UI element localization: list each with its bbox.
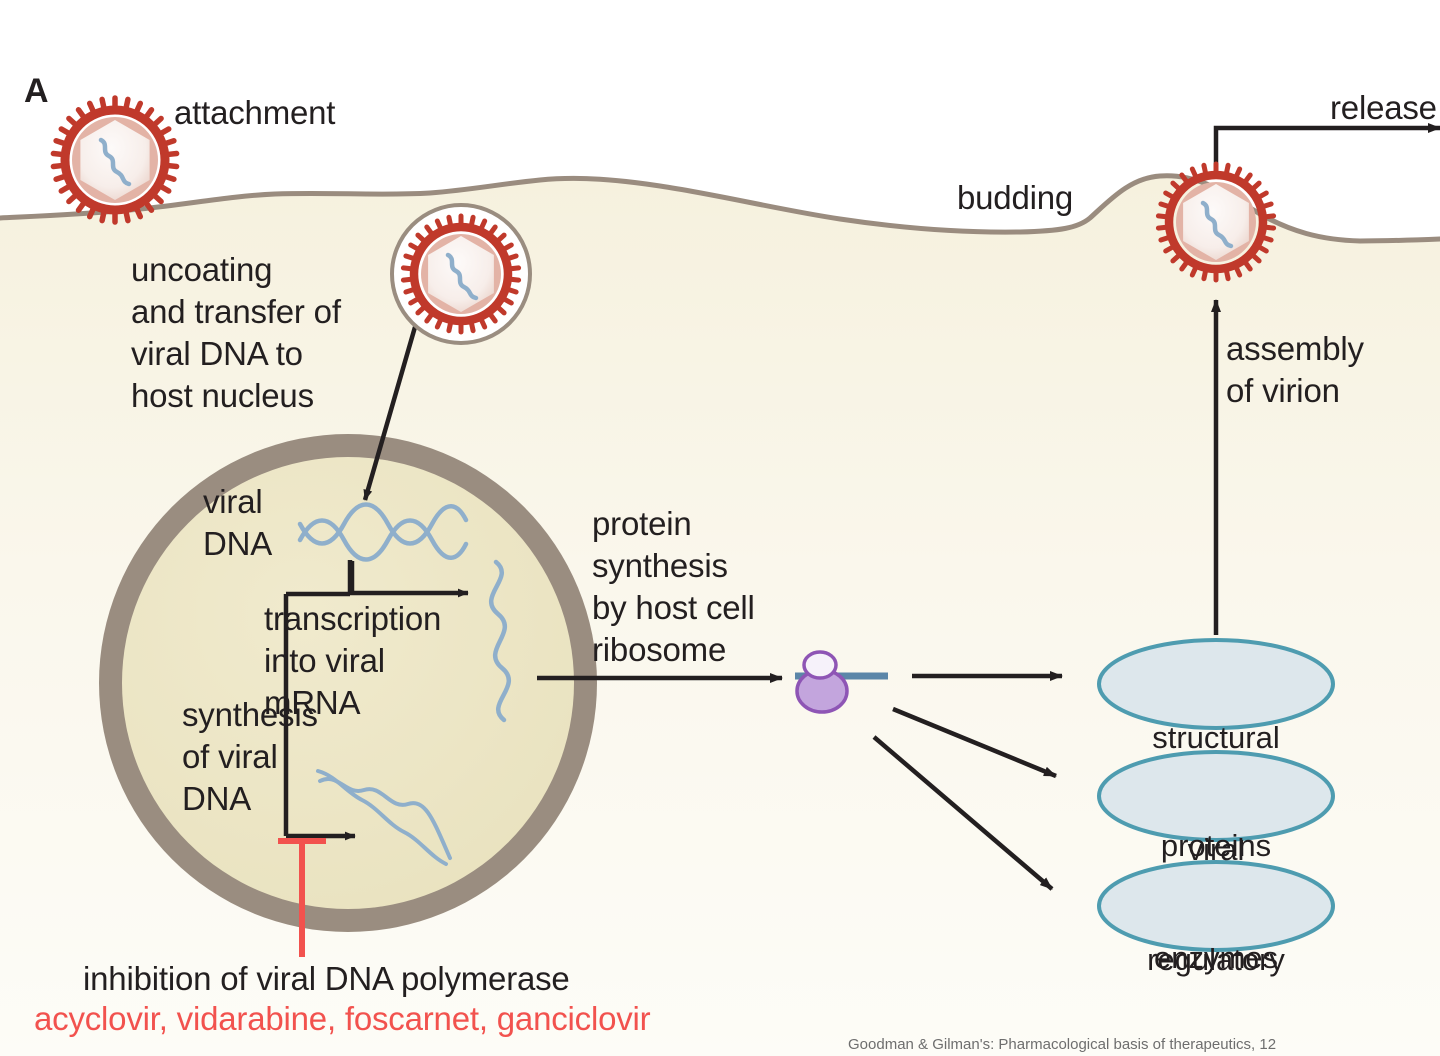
label-attachment: attachment (174, 92, 335, 134)
figure-citation: Goodman & Gilman's: Pharmacological basi… (848, 1036, 1276, 1054)
virion-budding-icon (1158, 164, 1273, 280)
label-viral-dna: viral DNA (203, 481, 272, 565)
label-assembly: assembly of virion (1226, 328, 1364, 412)
product-line-1: regulatory (1099, 942, 1333, 978)
label-protein-synthesis: protein synthesis by host cell ribosome (592, 503, 755, 671)
product-line-1: structural (1099, 720, 1333, 756)
virion-in-endosome-icon (392, 205, 530, 343)
label-budding: budding (957, 177, 1073, 219)
label-release: release (1330, 87, 1437, 129)
label-inhibition: inhibition of viral DNA polymerase (83, 958, 570, 1000)
label-synthesis: synthesis of viral DNA (182, 694, 318, 820)
virion-icon (53, 98, 176, 222)
panel-label: A (24, 70, 48, 112)
product-label-regulatory-proteins: regulatory proteins (1099, 870, 1333, 1056)
label-drugs: acyclovir, vidarabine, foscarnet, gancic… (34, 998, 650, 1040)
product-line-1: viral (1099, 832, 1333, 868)
label-uncoating: uncoating and transfer of viral DNA to h… (131, 249, 341, 417)
figure-canvas: A attachment uncoating and transfer of v… (0, 0, 1440, 1056)
